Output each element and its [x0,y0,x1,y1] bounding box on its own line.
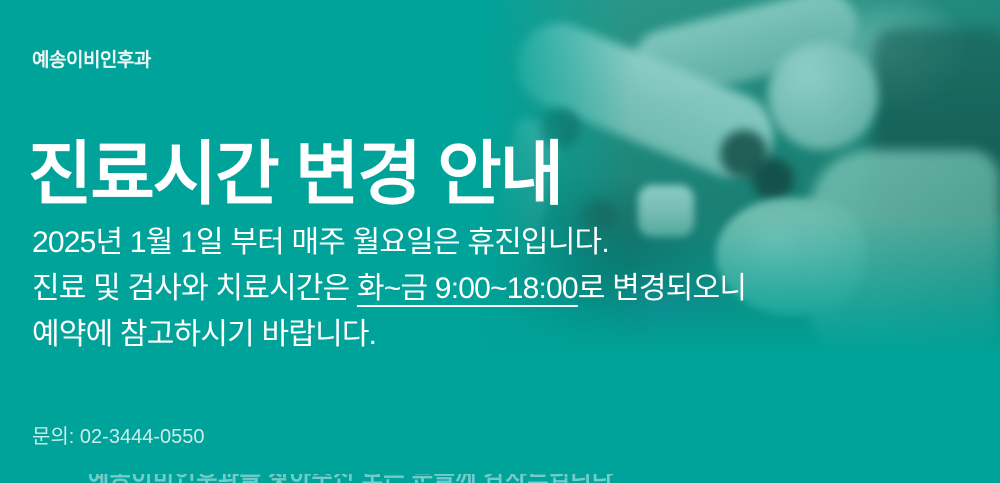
notice-line-closed-days: 2025년 1월 1일 부터 매주 월요일은 휴진입니다. [32,220,852,266]
notice-line-hours: 진료 및 검사와 치료시간은 화~금 9:00~18:00로 변경되오니 [32,266,852,312]
notice-line-reservation: 예약에 참고하시기 바랍니다. [32,312,852,358]
notice-hours-suffix: 로 변경되오니 [578,272,746,305]
clinic-notice-banner: 예송이비인후과 진료시간 변경 안내 2025년 1월 1일 부터 매주 월요일… [0,0,1000,483]
notice-body: 2025년 1월 1일 부터 매주 월요일은 휴진입니다. 진료 및 검사와 치… [32,220,852,358]
bottom-clipped-text-label: 예송이비인후과를 찾아주신 모든 분들께 감사드립니다 [88,474,1000,483]
notice-hours-prefix: 진료 및 검사와 치료시간은 [32,272,357,305]
contact-phone[interactable]: 문의: 02-3444-0550 [32,420,204,449]
page-title: 진료시간 변경 안내 [28,139,562,209]
notice-hours-value: 화~금 9:00~18:00 [357,272,578,305]
clinic-name: 예송이비인후과 [32,45,151,72]
bottom-clipped-text: 예송이비인후과를 찾아주신 모든 분들께 감사드립니다 [0,474,1000,483]
